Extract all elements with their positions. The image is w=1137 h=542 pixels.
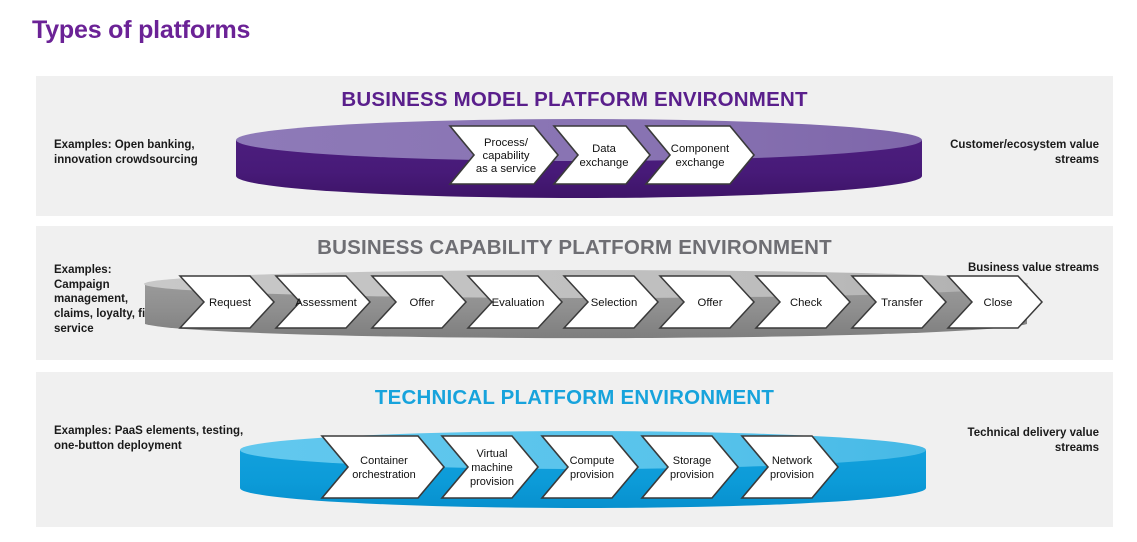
business-model-chevrons: Process/ capability as a service Data ex… (448, 124, 758, 186)
chevron-line: Evaluation (492, 297, 545, 309)
technical-chevrons: Container orchestration Virtual machine … (320, 434, 880, 500)
chevron-stage: Container orchestration (322, 436, 444, 498)
chevron-line: Close (984, 297, 1013, 309)
chevron-stage: Virtual machine provision (442, 436, 538, 498)
chevron-line: exchange (580, 157, 629, 169)
chevron-line: provision (770, 469, 814, 481)
chevron-line: Offer (698, 297, 723, 309)
chevron-line: orchestration (352, 469, 416, 481)
chevron-line: Offer (410, 297, 435, 309)
chevron-line: Network (772, 455, 813, 467)
chevron-line: capability (482, 150, 529, 162)
business-capability-chevrons: Request Assessment Offer Evaluation Sele… (178, 274, 1058, 330)
chevron-stage: Assessment (276, 276, 370, 328)
chevron-stage: Transfer (852, 276, 946, 328)
chevron-stage: Network provision (742, 436, 838, 498)
chevron-line: Compute (570, 455, 615, 467)
chevron-stage: Compute provision (542, 436, 638, 498)
panel-business-model-platform: BUSINESS MODEL PLATFORM ENVIRONMENT Exam… (36, 76, 1113, 216)
panel-heading: TECHNICAL PLATFORM ENVIRONMENT (36, 386, 1113, 410)
chevron-line: Assessment (295, 297, 357, 309)
chevron-line: provision (470, 476, 514, 488)
chevron-line: as a service (476, 163, 536, 175)
chevron-line: provision (570, 469, 614, 481)
chevron-stage: Request (180, 276, 274, 328)
examples-label: Examples: PaaS elements, testing, one-bu… (54, 424, 254, 453)
chevron-line: Storage (673, 455, 712, 467)
chevron-line: Transfer (881, 297, 923, 309)
examples-label: Examples: Open banking, innovation crowd… (54, 138, 244, 167)
chevron-stage: Selection (564, 276, 658, 328)
chevron-line: exchange (676, 157, 725, 169)
chevron-stage: Component exchange (646, 126, 754, 184)
chevron-stage: Process/ capability as a service (450, 126, 558, 184)
chevron-line: Container (360, 455, 408, 467)
chevron-line: Process/ (484, 137, 529, 149)
value-stream-label: Technical delivery value streams (949, 426, 1099, 455)
value-stream-label: Customer/ecosystem value streams (949, 138, 1099, 167)
chevron-line: Selection (591, 297, 637, 309)
chevron-stage: Storage provision (642, 436, 738, 498)
chevron-stage: Offer (660, 276, 754, 328)
chevron-line: Virtual (477, 448, 508, 460)
chevron-line: machine (471, 462, 513, 474)
panel-business-capability-platform: BUSINESS CAPABILITY PLATFORM ENVIRONMENT… (36, 226, 1113, 360)
chevron-stage: Close (948, 276, 1042, 328)
chevron-stage: Data exchange (554, 126, 650, 184)
chevron-line: Check (790, 297, 822, 309)
chevron-line: provision (670, 469, 714, 481)
panel-heading: BUSINESS CAPABILITY PLATFORM ENVIRONMENT (36, 236, 1113, 260)
chevron-line: Component (671, 143, 730, 155)
page-title: Types of platforms (32, 16, 250, 45)
chevron-line: Request (209, 297, 252, 309)
panel-heading: BUSINESS MODEL PLATFORM ENVIRONMENT (36, 88, 1113, 112)
chevron-stage: Offer (372, 276, 466, 328)
chevron-stage: Evaluation (468, 276, 562, 328)
chevron-line: Data (592, 143, 617, 155)
panel-technical-platform: TECHNICAL PLATFORM ENVIRONMENT Examples:… (36, 372, 1113, 527)
chevron-stage: Check (756, 276, 850, 328)
